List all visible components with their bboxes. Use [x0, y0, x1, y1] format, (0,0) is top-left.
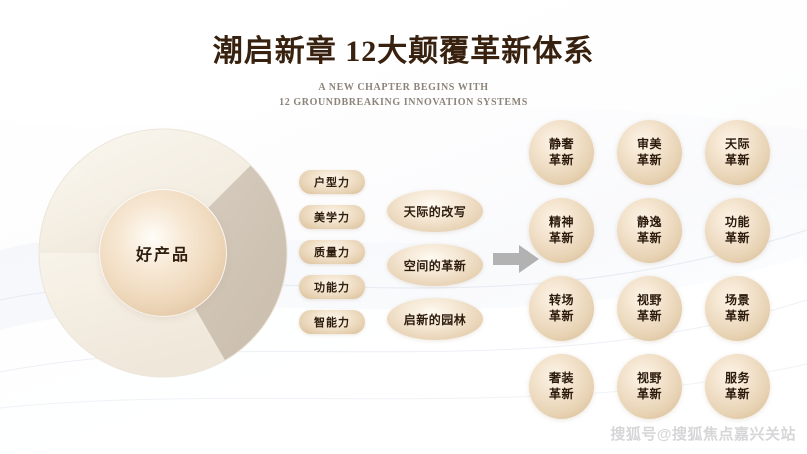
innovation-label-line1: 场景 — [725, 293, 750, 308]
innovation-label-line2: 革新 — [725, 153, 750, 168]
capability-pill-4[interactable]: 智能力 — [299, 310, 365, 334]
innovation-grid: 静奢 革新 审美 革新 天际 革新 精神 革新 静逸 革新 功能 — [529, 120, 771, 432]
innovation-node[interactable]: 视野 革新 — [617, 354, 682, 419]
theme-ellipse-label: 空间的革新 — [404, 257, 467, 274]
innovation-label-line1: 天际 — [725, 137, 750, 152]
innovation-label-line2: 革新 — [549, 309, 574, 324]
innovation-label-line2: 革新 — [549, 153, 574, 168]
capability-pill-2[interactable]: 质量力 — [299, 240, 365, 264]
innovation-node[interactable]: 视野 革新 — [617, 276, 682, 341]
subtitle-line-2: 12 GROUNDBREAKING INNOVATION SYSTEMS — [0, 95, 807, 110]
theme-ellipse-0[interactable]: 天际的改写 — [387, 190, 483, 232]
innovation-label-line2: 革新 — [549, 387, 574, 402]
innovation-node[interactable]: 静奢 革新 — [529, 120, 594, 185]
innovation-label-line2: 革新 — [549, 231, 574, 246]
innovation-label-line2: 革新 — [725, 387, 750, 402]
page-title: 潮启新章 12大颠覆革新体系 — [0, 34, 807, 70]
innovation-node[interactable]: 精神 革新 — [529, 198, 594, 263]
innovation-label-line1: 静奢 — [549, 137, 574, 152]
donut-center: 好产品 — [100, 190, 226, 316]
innovation-row: 静奢 革新 审美 革新 天际 革新 — [529, 120, 771, 185]
good-product-donut: 好产品 — [36, 126, 290, 380]
theme-ellipse-2[interactable]: 启新的园林 — [387, 298, 483, 340]
innovation-node[interactable]: 静逸 革新 — [617, 198, 682, 263]
innovation-label-line2: 革新 — [637, 387, 662, 402]
capability-pill-label: 功能力 — [314, 279, 350, 295]
innovation-label-line2: 革新 — [637, 231, 662, 246]
innovation-row: 奢装 革新 视野 革新 服务 革新 — [529, 354, 771, 419]
innovation-label-line1: 转场 — [549, 293, 574, 308]
innovation-label-line2: 革新 — [725, 231, 750, 246]
innovation-node[interactable]: 审美 革新 — [617, 120, 682, 185]
innovation-node[interactable]: 功能 革新 — [705, 198, 770, 263]
innovation-label-line1: 功能 — [725, 215, 750, 230]
capability-pill-3[interactable]: 功能力 — [299, 275, 365, 299]
innovation-node[interactable]: 服务 革新 — [705, 354, 770, 419]
page-subtitle: A NEW CHAPTER BEGINS WITH 12 GROUNDBREAK… — [0, 80, 807, 110]
capability-pill-1[interactable]: 美学力 — [299, 205, 365, 229]
innovation-label-line1: 审美 — [637, 137, 662, 152]
header: 潮启新章 12大颠覆革新体系 A NEW CHAPTER BEGINS WITH… — [0, 34, 807, 110]
innovation-label-line2: 革新 — [637, 153, 662, 168]
innovation-node[interactable]: 转场 革新 — [529, 276, 594, 341]
theme-ellipse-label: 天际的改写 — [404, 203, 467, 220]
innovation-node[interactable]: 天际 革新 — [705, 120, 770, 185]
donut-center-label: 好产品 — [136, 241, 190, 265]
innovation-label-line1: 精神 — [549, 215, 574, 230]
capability-list: 户型力 美学力 质量力 功能力 智能力 — [299, 170, 365, 345]
theme-list: 天际的改写 空间的革新 启新的园林 — [387, 190, 483, 352]
innovation-row: 精神 革新 静逸 革新 功能 革新 — [529, 198, 771, 263]
innovation-label-line1: 视野 — [637, 293, 662, 308]
slide-canvas: 潮启新章 12大颠覆革新体系 A NEW CHAPTER BEGINS WITH… — [0, 0, 807, 454]
capability-pill-label: 质量力 — [314, 244, 350, 260]
subtitle-line-1: A NEW CHAPTER BEGINS WITH — [0, 80, 807, 95]
theme-ellipse-label: 启新的园林 — [404, 311, 467, 328]
innovation-label-line1: 服务 — [725, 371, 750, 386]
innovation-row: 转场 革新 视野 革新 场景 革新 — [529, 276, 771, 341]
theme-ellipse-1[interactable]: 空间的革新 — [387, 244, 483, 286]
watermark: 搜狐号@搜狐焦点嘉兴关站 — [610, 423, 796, 444]
capability-pill-label: 智能力 — [314, 314, 350, 330]
innovation-label-line2: 革新 — [637, 309, 662, 324]
innovation-label-line1: 奢装 — [549, 371, 574, 386]
innovation-node[interactable]: 场景 革新 — [705, 276, 770, 341]
innovation-label-line1: 静逸 — [637, 215, 662, 230]
innovation-label-line2: 革新 — [725, 309, 750, 324]
innovation-label-line1: 视野 — [637, 371, 662, 386]
capability-pill-label: 美学力 — [314, 209, 350, 225]
innovation-node[interactable]: 奢装 革新 — [529, 354, 594, 419]
capability-pill-label: 户型力 — [314, 174, 350, 190]
capability-pill-0[interactable]: 户型力 — [299, 170, 365, 194]
